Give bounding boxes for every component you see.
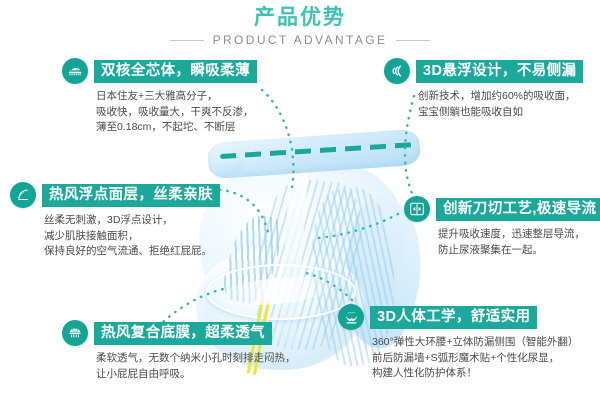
feature-block-knife-cut: 创新刀切工艺,极速导流 提升吸收速度，迅速整层导流， 防止尿液聚集在一起。 <box>404 196 600 258</box>
feature-body-line: 吸收快，吸收量大，干爽不反渗， <box>96 105 257 121</box>
feature-title-dual-core: 双核全芯体，瞬吸柔薄 <box>94 60 257 83</box>
feature-title-hot-air-surface: 热风浮点面层，丝柔亲肤 <box>42 184 220 207</box>
page-header: 产品优势 PRODUCT ADVANTAGE <box>0 6 600 47</box>
page-title-cn: 产品优势 <box>0 6 600 30</box>
feature-body-line: 柔软透气，无数个纳米小孔时刻排走闷热， <box>96 351 296 367</box>
page-title-en: PRODUCT ADVANTAGE <box>213 33 388 47</box>
feather-icon <box>10 182 36 208</box>
feature-body-ergonomics: 360°弹性大环腰+立体防漏侧围（智能外翻） 前后防漏墙+S弧形魔术贴+个性化尿… <box>372 335 578 382</box>
feature-body-line: 保持良好的空气流通、拒绝红屁屁。 <box>44 244 220 260</box>
feature-body-line: 创新技术，增加约60%的吸收面， <box>418 89 583 105</box>
feature-title-knife-cut: 创新刀切工艺,极速导流 <box>436 198 600 221</box>
feature-body-line: 构建人性化防护体系！ <box>372 366 578 382</box>
feature-block-bottom-film: 热风复合底膜，超柔透气 柔软透气，无数个纳米小孔时刻排走闷热， 让小屁屁自由呼吸… <box>62 320 296 382</box>
feature-body-bottom-film: 柔软透气，无数个纳米小孔时刻排走闷热， 让小屁屁自由呼吸。 <box>96 351 296 382</box>
feature-body-line: 360°弹性大环腰+立体防漏侧围（智能外翻） <box>372 335 578 351</box>
sound-waves-icon <box>384 58 410 84</box>
feature-body-3d-suspension: 创新技术，增加约60%的吸收面， 宝宝侧躺也能吸收自如 <box>418 89 583 120</box>
feature-body-knife-cut: 提升吸收速度，迅速整层导流， 防止尿液聚集在一起。 <box>438 227 600 258</box>
feature-title-3d-suspension: 3D悬浮设计，不易侧漏 <box>416 60 583 83</box>
feature-body-line: 让小屁屁自由呼吸。 <box>96 367 296 383</box>
mattress-core-icon <box>62 58 88 84</box>
feature-body-line: 丝柔无刺激，3D浮点设计， <box>44 213 220 229</box>
feature-header-bottom-film: 热风复合底膜，超柔透气 <box>62 320 296 346</box>
page-subtitle-row: PRODUCT ADVANTAGE <box>0 33 600 47</box>
feature-body-line: 日本住友+三大雅高分子， <box>96 89 257 105</box>
feature-body-line: 薄至0.18cm，不起坨、不断层 <box>96 120 257 136</box>
flow-channel-icon <box>404 196 430 222</box>
feature-block-hot-air-surface: 热风浮点面层，丝柔亲肤 丝柔无刺激，3D浮点设计， 减少肌肤接触面积， 保持良好… <box>10 182 220 260</box>
feature-body-hot-air-surface: 丝柔无刺激，3D浮点设计， 减少肌肤接触面积， 保持良好的空气流通、拒绝红屁屁。 <box>44 213 220 260</box>
feature-block-dual-core: 双核全芯体，瞬吸柔薄 日本住友+三大雅高分子， 吸收快，吸收量大，干爽不反渗， … <box>62 58 257 136</box>
feature-header-hot-air-surface: 热风浮点面层，丝柔亲肤 <box>10 182 220 208</box>
feature-body-line: 减少肌肤接触面积， <box>44 229 220 245</box>
breathable-cloud-icon <box>62 320 88 346</box>
product-advantage-infographic: 产品优势 PRODUCT ADVANTAGE <box>0 0 600 401</box>
feature-block-3d-suspension: 3D悬浮设计，不易侧漏 创新技术，增加约60%的吸收面， 宝宝侧躺也能吸收自如 <box>384 58 583 120</box>
feature-body-dual-core: 日本住友+三大雅高分子， 吸收快，吸收量大，干爽不反渗， 薄至0.18cm，不起… <box>96 89 257 136</box>
feature-header-3d-suspension: 3D悬浮设计，不易侧漏 <box>384 58 583 84</box>
feature-header-dual-core: 双核全芯体，瞬吸柔薄 <box>62 58 257 84</box>
feature-block-ergonomics: 3D人体工学，舒适实用 360°弹性大环腰+立体防漏侧围（智能外翻） 前后防漏墙… <box>338 304 578 382</box>
divider-line-right <box>396 40 430 41</box>
feature-body-line: 宝宝侧躺也能吸收自如 <box>418 105 583 121</box>
feature-title-bottom-film: 热风复合底膜，超柔透气 <box>94 322 272 345</box>
feature-header-knife-cut: 创新刀切工艺,极速导流 <box>404 196 600 222</box>
feature-header-ergonomics: 3D人体工学，舒适实用 <box>338 304 578 330</box>
divider-line-left <box>170 40 204 41</box>
feature-body-line: 前后防漏墙+S弧形魔术贴+个性化尿显， <box>372 351 578 367</box>
ergonomic-hug-icon <box>338 304 364 330</box>
feature-title-ergonomics: 3D人体工学，舒适实用 <box>370 306 537 329</box>
feature-body-line: 提升吸收速度，迅速整层导流， <box>438 227 600 243</box>
feature-body-line: 防止尿液聚集在一起。 <box>438 243 600 259</box>
